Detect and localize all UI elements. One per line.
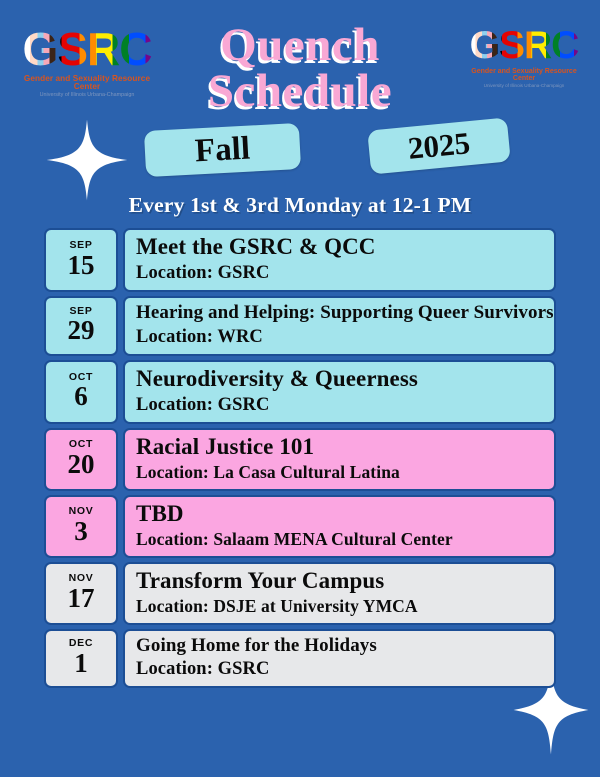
event-title: Hearing and Helping: Supporting Queer Su… <box>136 303 554 323</box>
event-info-cell: Hearing and Helping: Supporting Queer Su… <box>123 296 556 355</box>
event-location: Location: GSRC <box>136 659 554 680</box>
event-location: Location: WRC <box>136 327 554 348</box>
schedule-row: NOV3TBDLocation: Salaam MENA Cultural Ce… <box>44 495 556 558</box>
event-month: NOV <box>69 573 94 584</box>
event-date-cell: SEP29 <box>44 296 118 355</box>
schedule-row: NOV17Transform Your CampusLocation: DSJE… <box>44 562 556 625</box>
event-date-cell: OCT6 <box>44 360 118 424</box>
event-location: Location: DSJE at University YMCA <box>136 597 554 617</box>
schedule-row: OCT6Neurodiversity & QueernessLocation: … <box>44 360 556 424</box>
event-day: 3 <box>74 518 88 546</box>
event-location: Location: GSRC <box>136 395 554 416</box>
event-title: Neurodiversity & Queerness <box>136 367 554 391</box>
year-banner: 2025 <box>367 117 511 174</box>
event-info-cell: Neurodiversity & QueernessLocation: GSRC <box>123 360 556 424</box>
event-title: Meet the GSRC & QCC <box>136 235 554 259</box>
season-banner: Fall <box>144 123 301 177</box>
schedule-subtitle: Every 1st & 3rd Monday at 12-1 PM <box>0 193 600 218</box>
event-date-cell: DEC1 <box>44 629 118 688</box>
schedule-row: DEC1Going Home for the HolidaysLocation:… <box>44 629 556 688</box>
event-title: Going Home for the Holidays <box>136 636 554 656</box>
event-day: 15 <box>68 252 95 280</box>
poster-canvas: GSRC Gender and Sexuality Resource Cente… <box>0 0 600 777</box>
event-location: Location: Salaam MENA Cultural Center <box>136 530 554 550</box>
event-date-cell: SEP15 <box>44 228 118 292</box>
event-info-cell: Going Home for the HolidaysLocation: GSR… <box>123 629 556 688</box>
event-day: 6 <box>74 383 88 411</box>
event-date-cell: NOV3 <box>44 495 118 558</box>
sparkle-icon <box>45 118 129 202</box>
page-title-line-2: Schedule <box>0 68 600 114</box>
event-day: 29 <box>68 317 95 345</box>
event-day: 20 <box>68 451 95 479</box>
event-info-cell: Racial Justice 101Location: La Casa Cult… <box>123 428 556 491</box>
event-day: 1 <box>74 650 88 678</box>
event-date-cell: NOV17 <box>44 562 118 625</box>
schedule-list: SEP15Meet the GSRC & QCCLocation: GSRCSE… <box>44 228 556 692</box>
page-title-line-1: Quench <box>220 19 380 71</box>
event-month: SEP <box>69 240 92 251</box>
event-location: Location: GSRC <box>136 263 554 284</box>
event-day: 17 <box>68 585 95 613</box>
event-title: TBD <box>136 502 554 526</box>
schedule-row: SEP29Hearing and Helping: Supporting Que… <box>44 296 556 355</box>
event-title: Racial Justice 101 <box>136 435 554 459</box>
page-title: Quench Schedule <box>0 22 600 114</box>
schedule-row: SEP15Meet the GSRC & QCCLocation: GSRC <box>44 228 556 292</box>
event-info-cell: TBDLocation: Salaam MENA Cultural Center <box>123 495 556 558</box>
event-location: Location: La Casa Cultural Latina <box>136 463 554 483</box>
schedule-row: OCT20Racial Justice 101Location: La Casa… <box>44 428 556 491</box>
event-title: Transform Your Campus <box>136 569 554 593</box>
event-info-cell: Meet the GSRC & QCCLocation: GSRC <box>123 228 556 292</box>
event-date-cell: OCT20 <box>44 428 118 491</box>
event-info-cell: Transform Your CampusLocation: DSJE at U… <box>123 562 556 625</box>
